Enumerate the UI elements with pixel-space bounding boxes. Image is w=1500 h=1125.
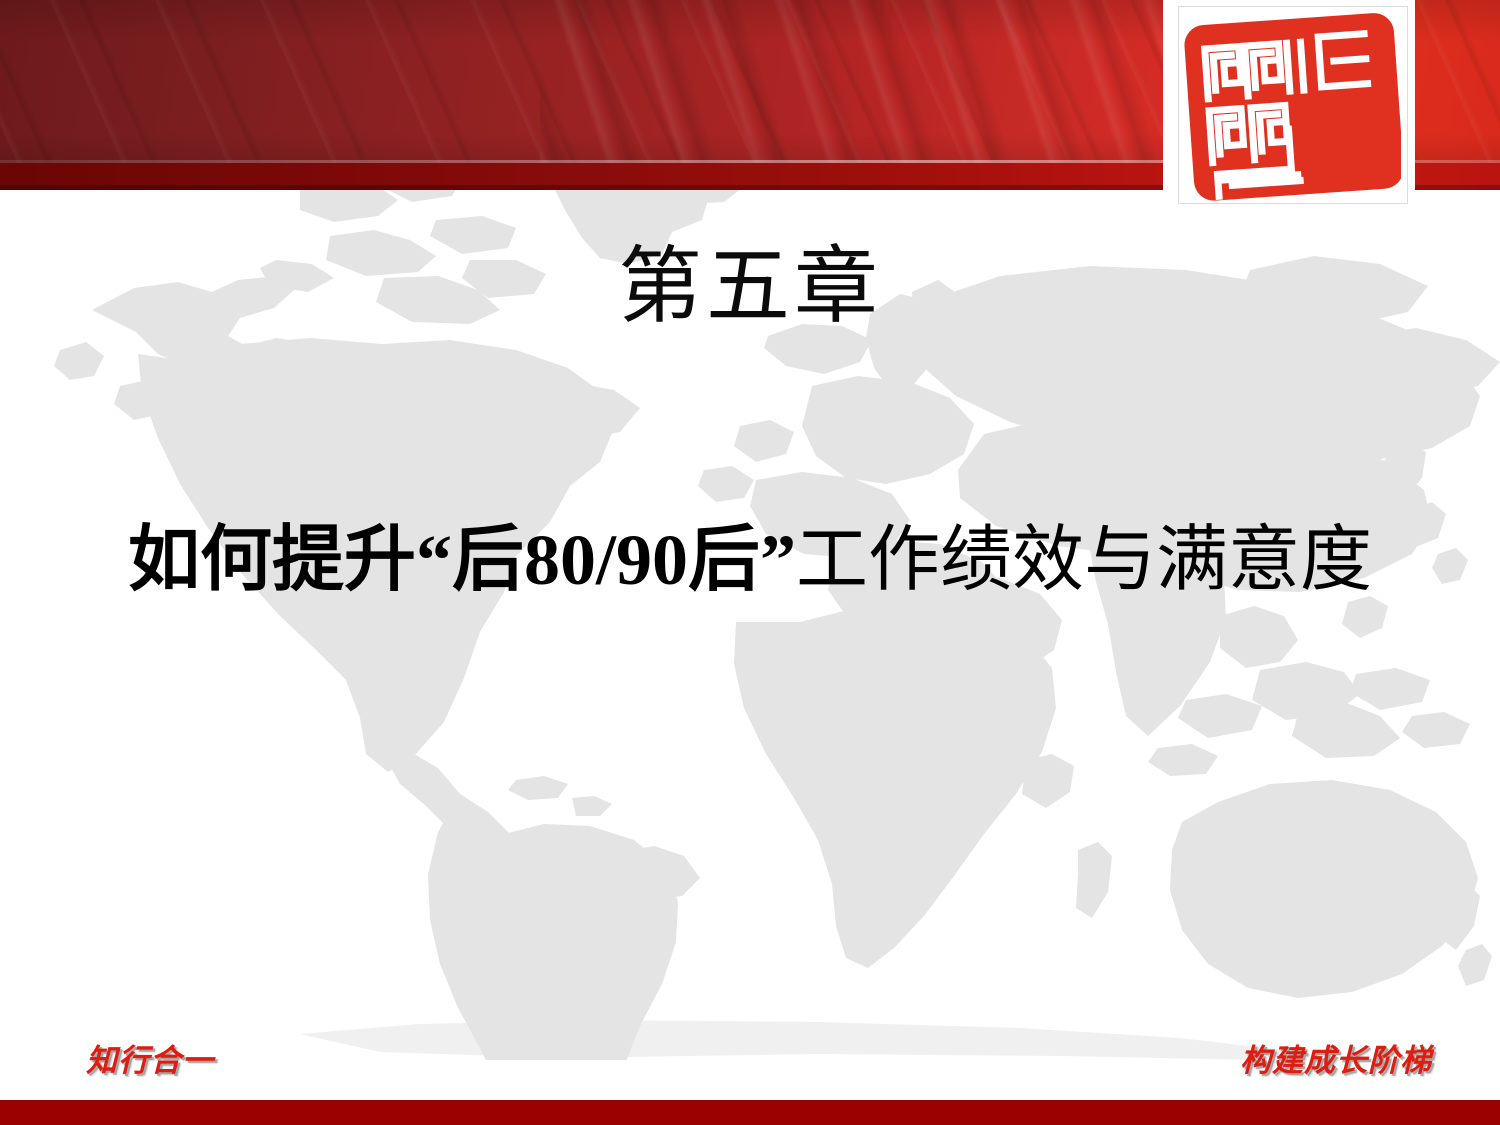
chapter-label: 第五章 xyxy=(0,236,1500,340)
heading-segment-generation: 后80/90后 xyxy=(452,520,760,600)
footer-slogan-right: 构建成长阶梯 xyxy=(1240,1044,1432,1078)
footer-slogan-left: 知行合一 xyxy=(86,1044,214,1078)
slide-bottom-bar xyxy=(0,1100,1500,1125)
heading-quote-open: “ xyxy=(416,520,452,600)
slide-content: 第五章 如何提升“后80/90后”工作绩效与满意度 知行合一 构建成长阶梯 xyxy=(0,0,1500,1125)
presentation-slide: 第五章 如何提升“后80/90后”工作绩效与满意度 知行合一 构建成长阶梯 xyxy=(0,0,1500,1125)
heading-segment-topic: 工作绩效与满意度 xyxy=(796,520,1372,600)
heading-segment-action: 如何提升 xyxy=(128,520,416,600)
heading-quote-close: ” xyxy=(760,520,796,600)
slide-main-heading: 如何提升“后80/90后”工作绩效与满意度 xyxy=(60,516,1440,604)
